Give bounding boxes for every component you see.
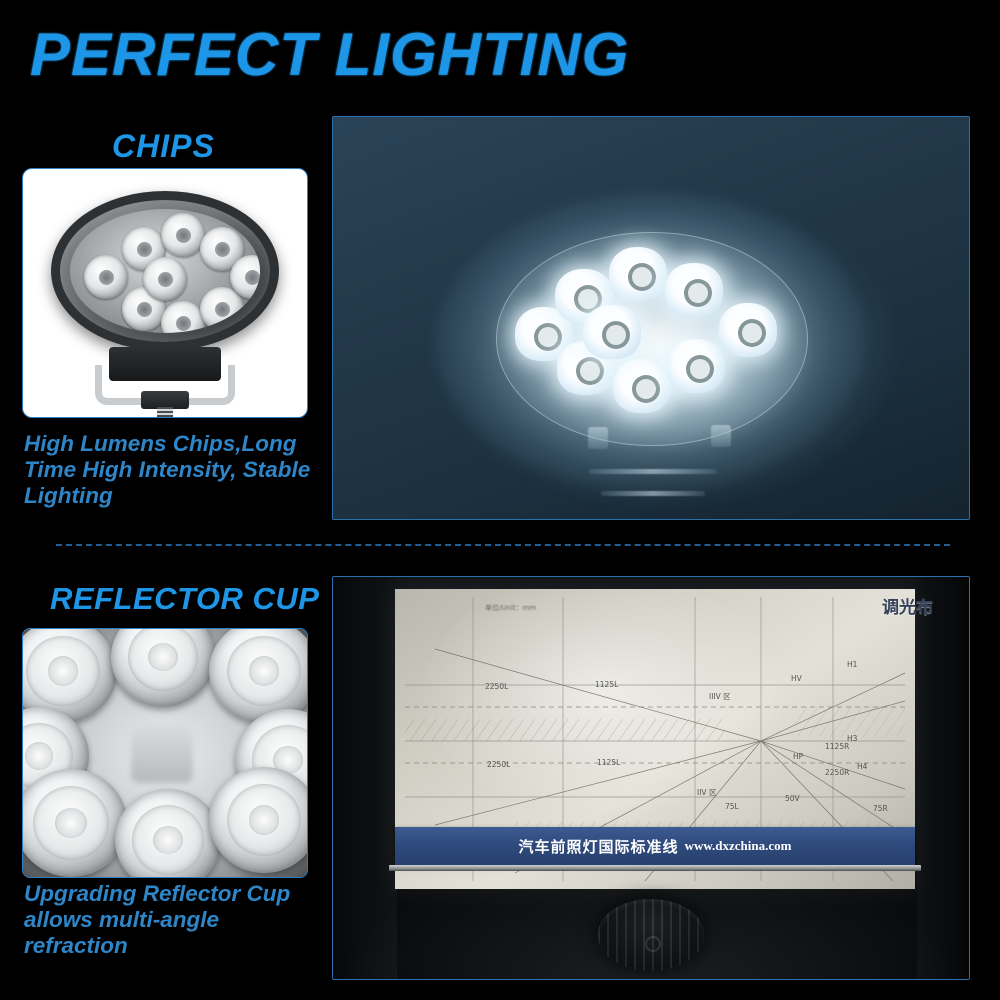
page-title: PERFECT LIGHTING [30,20,629,89]
lamp-rear-housing [598,899,704,971]
led-chip [143,257,187,301]
svg-text:1125L: 1125L [597,758,621,767]
svg-text:2250R: 2250R [825,768,849,777]
bracket-crossbar [589,469,717,474]
bracket-base [601,491,705,496]
section-heading-reflector-cup: REFLECTOR CUP [50,581,319,617]
svg-text:50V: 50V [785,794,801,803]
glowing-led [609,247,667,301]
glowing-led [583,305,641,359]
bracket-foot-left [588,427,608,449]
bracket-foot-right [711,425,731,447]
reflector-center-blur [131,725,193,783]
svg-text:IIIV 区: IIIV 区 [709,692,731,701]
svg-text:1125R: 1125R [825,742,849,751]
glowing-led [719,303,777,357]
reflector-cup [209,767,308,873]
glowing-led [667,339,725,393]
reflector-cup [115,789,221,878]
reflector-cup [22,769,127,877]
mount-bracket-stud [157,407,173,418]
svg-text:IIV 区: IIV 区 [697,788,717,797]
marketing-image-root: PERFECT LIGHTING CHIPS [0,0,1000,1000]
lamp-lens-outline [496,232,808,446]
reflector-cup [111,628,215,707]
svg-text:1125L: 1125L [595,680,619,689]
glowing-led [665,263,723,317]
cloth-label: 调光布 [882,593,933,618]
lamp-lens-face [70,209,260,333]
banner-text: 汽车前照灯国际标准线 [519,836,679,857]
led-chip [161,301,205,333]
banner-url: www.dxzchina.com [685,838,792,854]
beam-pattern-test-photo: 2250L 1125L IIIV 区 HV H1 2250L 1125L HP … [332,576,970,980]
unit-label: 单位/Unit：mm [485,603,536,613]
led-beam-photo [332,116,970,520]
led-chip [161,213,205,257]
svg-text:H4: H4 [857,762,868,771]
svg-text:HV: HV [791,674,803,683]
reflector-macro-illustration [23,629,307,877]
section-heading-chips: CHIPS [112,128,215,165]
oval-led-work-light-illustration [23,169,307,417]
reflector-caption: Upgrading Reflector Cup allows multi-ang… [24,881,324,959]
chips-caption: High Lumens Chips,Long Time High Intensi… [24,431,324,509]
led-chip [84,255,128,299]
svg-text:75R: 75R [873,804,888,813]
svg-text:2250L: 2250L [485,682,509,691]
reflector-cup-photo [22,628,308,878]
svg-text:HP: HP [793,752,804,761]
chips-product-photo [22,168,308,418]
lamp-housing [51,191,279,351]
svg-text:75L: 75L [725,802,740,811]
section-divider [56,544,950,546]
svg-text:2250L: 2250L [487,760,511,769]
svg-text:H1: H1 [847,660,858,669]
glowing-led [613,359,671,413]
